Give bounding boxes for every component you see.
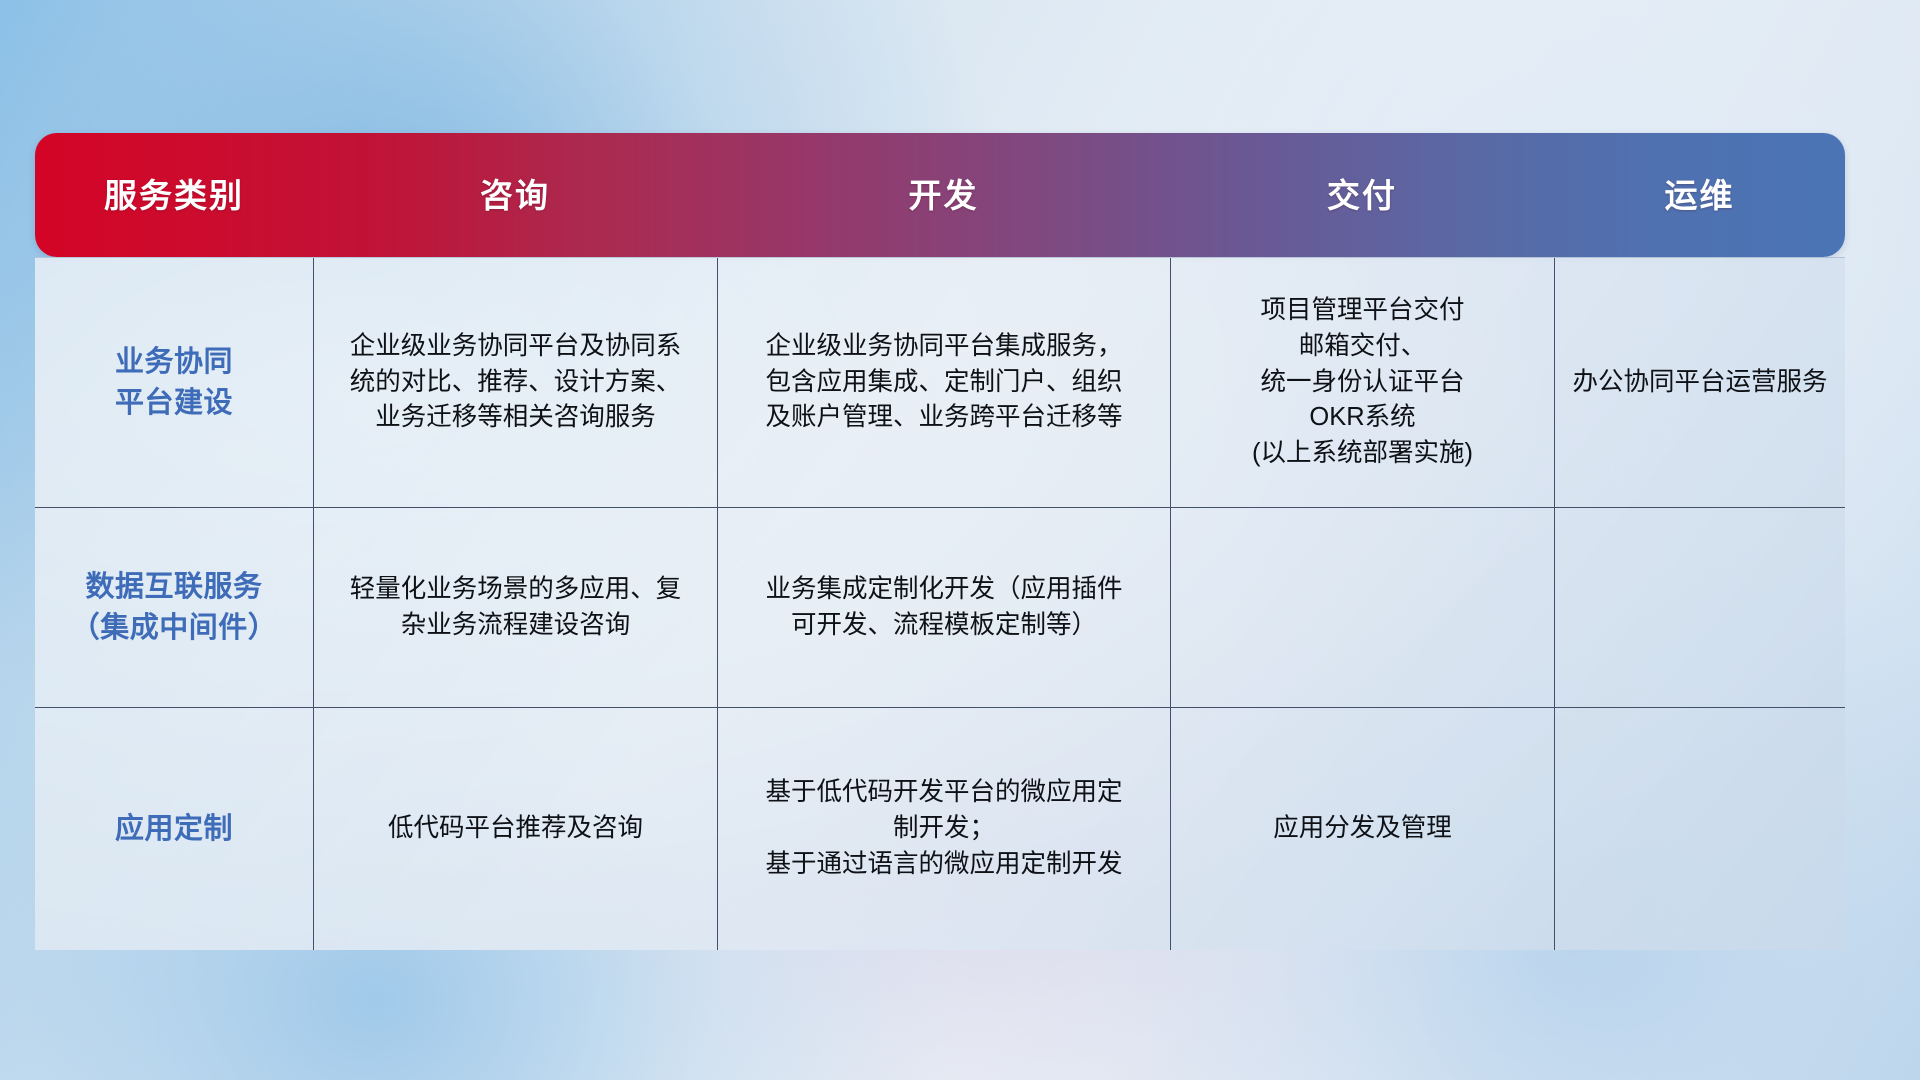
row-category-label: 数据互联服务 （集成中间件） — [35, 508, 313, 707]
column-header-category: 服务类别 — [35, 179, 313, 212]
row-category-label: 应用定制 — [35, 708, 313, 950]
table-header-row: 服务类别 咨询 开发 交付 运维 — [35, 133, 1845, 257]
cell-development: 业务集成定制化开发（应用插件 可开发、流程模板定制等） — [717, 508, 1170, 707]
slide-canvas: 服务类别 咨询 开发 交付 运维 业务协同 平台建设 企业级业务协同平台及协同系… — [0, 0, 1920, 1080]
column-header-delivery: 交付 — [1170, 179, 1554, 212]
column-header-consulting: 咨询 — [313, 179, 717, 212]
column-header-operations: 运维 — [1554, 179, 1845, 212]
table-row: 业务协同 平台建设 企业级业务协同平台及协同系 统的对比、推荐、设计方案、 业务… — [35, 258, 1845, 507]
column-header-development: 开发 — [717, 179, 1170, 212]
table-body: 业务协同 平台建设 企业级业务协同平台及协同系 统的对比、推荐、设计方案、 业务… — [35, 257, 1845, 950]
table-row: 数据互联服务 （集成中间件） 轻量化业务场景的多应用、复 杂业务流程建设咨询 业… — [35, 507, 1845, 707]
cell-delivery: 应用分发及管理 — [1170, 708, 1554, 950]
cell-consulting: 低代码平台推荐及咨询 — [313, 708, 717, 950]
cell-development: 企业级业务协同平台集成服务， 包含应用集成、定制门户、组织 及账户管理、业务跨平… — [717, 258, 1170, 507]
cell-operations — [1554, 708, 1845, 950]
table-row: 应用定制 低代码平台推荐及咨询 基于低代码开发平台的微应用定 制开发； 基于通过… — [35, 707, 1845, 950]
cell-delivery: 项目管理平台交付 邮箱交付、 统一身份认证平台 OKR系统 (以上系统部署实施) — [1170, 258, 1554, 507]
cell-development: 基于低代码开发平台的微应用定 制开发； 基于通过语言的微应用定制开发 — [717, 708, 1170, 950]
row-category-label: 业务协同 平台建设 — [35, 258, 313, 507]
cell-operations: 办公协同平台运营服务 — [1554, 258, 1845, 507]
service-matrix-table: 服务类别 咨询 开发 交付 运维 业务协同 平台建设 企业级业务协同平台及协同系… — [35, 133, 1845, 950]
cell-consulting: 轻量化业务场景的多应用、复 杂业务流程建设咨询 — [313, 508, 717, 707]
cell-operations — [1554, 508, 1845, 707]
cell-consulting: 企业级业务协同平台及协同系 统的对比、推荐、设计方案、 业务迁移等相关咨询服务 — [313, 258, 717, 507]
cell-delivery — [1170, 508, 1554, 707]
